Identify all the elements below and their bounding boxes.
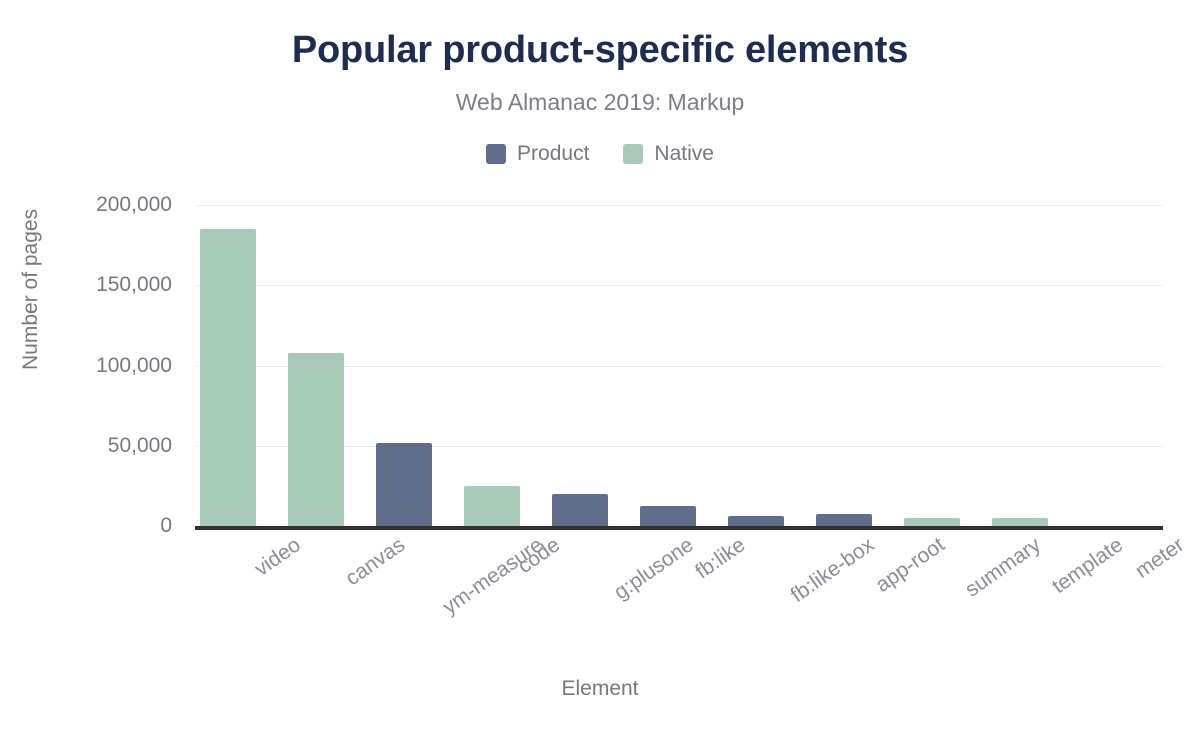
x-axis-tick-label-template: template	[1049, 534, 1127, 597]
bar-ym-measure[interactable]	[376, 443, 432, 526]
bar-template[interactable]	[992, 518, 1048, 526]
bar-canvas[interactable]	[288, 353, 344, 526]
y-axis-title: Number of pages	[20, 209, 41, 370]
bar-fb:like[interactable]	[640, 506, 696, 526]
bar-series-group	[195, 205, 1163, 526]
x-axis-tick-labels: videocanvasym-measurecodeg:plusonefb:lik…	[195, 534, 1163, 654]
x-axis-tick-label-app-root: app-root	[872, 534, 948, 596]
x-axis-title: Element	[0, 678, 1200, 699]
bar-code[interactable]	[464, 486, 520, 526]
bar-app-root[interactable]	[816, 514, 872, 526]
legend-swatch-native	[623, 144, 643, 164]
y-axis-tick-label: 0	[0, 514, 180, 538]
x-axis-tick-label-video: video	[251, 534, 304, 580]
x-axis-tick-label-canvas: canvas	[342, 534, 409, 589]
legend-item-native[interactable]: Native	[623, 143, 714, 164]
bar-fb:like-box[interactable]	[728, 516, 784, 526]
y-axis-tick-label: 50,000	[0, 434, 180, 458]
x-axis-tick-label-summary: summary	[962, 534, 1045, 601]
legend-swatch-product	[486, 144, 506, 164]
y-axis-tick-labels: 050,000100,000150,000200,000	[0, 0, 180, 740]
legend-item-product[interactable]: Product	[486, 143, 589, 164]
bar-video[interactable]	[200, 229, 256, 526]
legend-label-native: Native	[654, 143, 714, 164]
x-axis-tick-label-meter: meter	[1132, 534, 1188, 582]
x-axis-line	[195, 526, 1163, 530]
chart-title: Popular product-specific elements	[0, 30, 1200, 72]
x-axis-tick-label-g:plusone: g:plusone	[610, 534, 697, 603]
chart-subtitle: Web Almanac 2019: Markup	[0, 90, 1200, 115]
x-axis-tick-label-fb:like: fb:like	[692, 534, 749, 583]
bar-summary[interactable]	[904, 518, 960, 526]
chart-legend: Product Native	[0, 143, 1200, 164]
chart-container: Popular product-specific elements Web Al…	[0, 0, 1200, 740]
x-axis-tick-label-fb:like-box: fb:like-box	[787, 534, 877, 606]
legend-label-product: Product	[517, 143, 589, 164]
bar-g:plusone[interactable]	[552, 494, 608, 526]
